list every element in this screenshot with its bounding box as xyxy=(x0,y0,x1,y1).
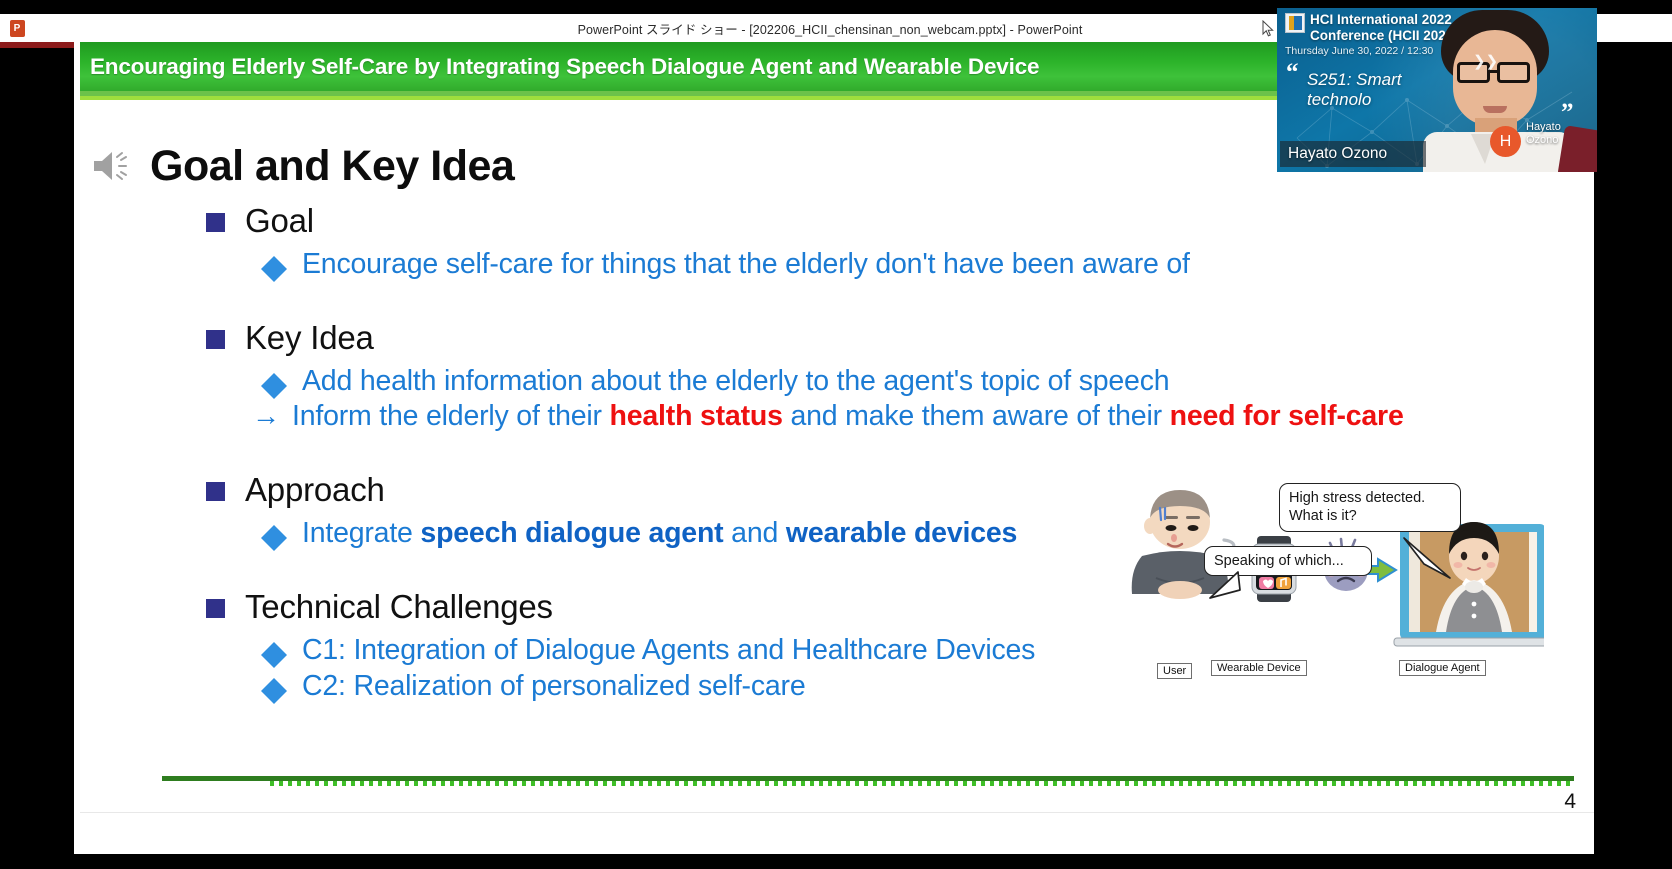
page-title: Goal and Key Idea xyxy=(150,142,514,191)
quote-open-icon: “ xyxy=(1286,60,1299,85)
square-bullet-icon xyxy=(206,599,225,618)
square-bullet-icon xyxy=(206,213,225,232)
presenter-tie xyxy=(1557,125,1597,172)
section-heading-label: Technical Challenges xyxy=(245,588,553,626)
bubble-line-2: What is it? xyxy=(1289,507,1451,525)
bubble-line-1: Speaking of which... xyxy=(1214,553,1344,569)
bullet-item-arrow: → Inform the elderly of their health sta… xyxy=(252,400,1594,433)
presenter-name-bar: Hayato Ozono xyxy=(1280,141,1426,167)
speaker-audio-icon[interactable] xyxy=(90,147,136,185)
bullet-item-label: Inform the elderly of their health statu… xyxy=(292,400,1404,433)
presenter-glasses-right xyxy=(1497,62,1530,83)
text-prefix: Integrate xyxy=(302,517,420,549)
bullet-item: Encourage self-care for things that the … xyxy=(264,248,1594,281)
desktop-bezel-right xyxy=(1594,42,1672,869)
avatar-label-line-1: Hayato xyxy=(1526,121,1561,134)
avatar-label-line-2: Ozono xyxy=(1526,134,1561,147)
text-middle: and make them aware of their xyxy=(783,400,1170,432)
desktop-accent-strip xyxy=(0,42,74,48)
emphasis-wearable-devices: wearable devices xyxy=(786,517,1017,549)
concept-illustration: 10:35 xyxy=(1124,478,1544,693)
arrow-right-icon: → xyxy=(252,400,280,432)
page-number: 4 xyxy=(1564,790,1576,814)
section-heading-label: Approach xyxy=(245,471,385,509)
powerpoint-glyph: P xyxy=(10,20,25,37)
mouse-cursor-icon xyxy=(1262,20,1274,38)
avatar[interactable]: H xyxy=(1490,126,1521,157)
speech-bubble-tail-speaking xyxy=(1208,570,1248,604)
presenter-mouth xyxy=(1483,106,1507,113)
text-prefix: Inform the elderly of their xyxy=(292,400,610,432)
bullet-item: Add health information about the elderly… xyxy=(264,365,1594,398)
caption-dialogue-agent: Dialogue Agent xyxy=(1399,660,1486,676)
section-heading-goal: Goal xyxy=(206,202,1594,240)
footer-dotted-rule xyxy=(270,781,1574,786)
section-heading-key-idea: Key Idea xyxy=(206,319,1594,357)
emphasis-speech-dialogue-agent: speech dialogue agent xyxy=(420,517,723,549)
emphasis-health-status: health status xyxy=(610,400,783,432)
screen: P PowerPoint スライド ショー - [202206_HCII_che… xyxy=(0,0,1672,869)
diamond-bullet-icon xyxy=(261,642,287,668)
bullet-item-label: Encourage self-care for things that the … xyxy=(302,248,1190,281)
desktop-bezel-bottom xyxy=(0,854,1672,869)
presenter-glasses-bridge xyxy=(1490,70,1497,73)
caption-user: User xyxy=(1157,663,1192,679)
presenter-name: Hayato Ozono xyxy=(1288,145,1387,163)
diamond-bullet-icon xyxy=(261,256,287,282)
bullet-item-label: Add health information about the elderly… xyxy=(302,365,1169,398)
slide-title-row: Goal and Key Idea xyxy=(84,137,1084,195)
square-bullet-icon xyxy=(206,482,225,501)
section-heading-label: Key Idea xyxy=(245,319,374,357)
bullet-item-label: Integrate speech dialogue agent and wear… xyxy=(302,517,1017,550)
diamond-bullet-icon xyxy=(261,678,287,704)
avatar-label: Hayato Ozono xyxy=(1526,121,1561,146)
text-middle: and xyxy=(723,517,785,549)
bullet-item-label: C2: Realization of personalized self-car… xyxy=(302,670,805,703)
desktop-bezel-left xyxy=(0,42,74,869)
powerpoint-app-icon: P xyxy=(6,17,28,39)
diamond-bullet-icon xyxy=(261,525,287,551)
conference-date: Thursday June 30, 2022 / 12:30 xyxy=(1285,46,1433,58)
emphasis-need-for-self-care: need for self-care xyxy=(1170,400,1404,432)
bubble-line-1: High stress detected. xyxy=(1289,489,1451,507)
chevron-right-icon[interactable]: ❯❯ xyxy=(1473,52,1498,70)
section-heading-label: Goal xyxy=(245,202,314,240)
logo-inner-mark xyxy=(1289,16,1302,30)
webcam-overlay[interactable]: HCI International 2022 Conference (HCII … xyxy=(1277,8,1597,172)
square-bullet-icon xyxy=(206,330,225,349)
slide-footer-area xyxy=(80,812,1594,854)
diamond-bullet-icon xyxy=(261,373,287,399)
conference-logo-icon xyxy=(1285,13,1305,33)
speech-bubble-tail-high xyxy=(1400,536,1454,582)
slide-header-title: Encouraging Elderly Self-Care by Integra… xyxy=(90,54,1039,80)
speech-bubble-high-stress: High stress detected. What is it? xyxy=(1279,483,1461,532)
bullet-item-label: C1: Integration of Dialogue Agents and H… xyxy=(302,634,1035,667)
caption-wearable-device: Wearable Device xyxy=(1211,660,1307,676)
